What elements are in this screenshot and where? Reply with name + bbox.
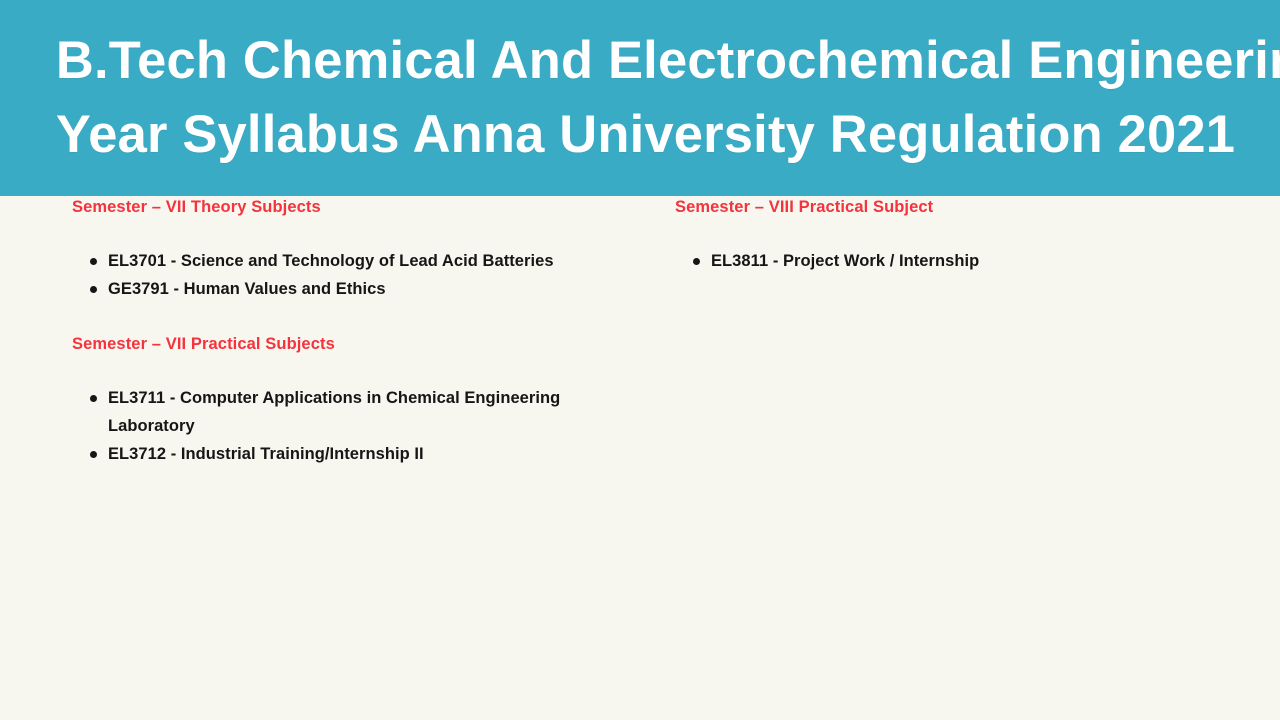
right-column: Semester – VIII Practical Subject EL3811… xyxy=(675,196,1215,275)
subject-list-semester-vii-theory: EL3701 - Science and Technology of Lead … xyxy=(72,247,612,303)
spacer xyxy=(72,355,612,384)
page-title: B.Tech Chemical And Electrochemical Engi… xyxy=(56,24,1224,172)
section-heading-semester-vii-practical: Semester – VII Practical Subjects xyxy=(72,333,612,355)
spacer xyxy=(72,303,612,333)
header-banner: B.Tech Chemical And Electrochemical Engi… xyxy=(0,0,1280,196)
section-semester-viii-practical: Semester – VIII Practical Subject EL3811… xyxy=(675,196,1215,275)
section-semester-vii-theory: Semester – VII Theory Subjects EL3701 - … xyxy=(72,196,612,303)
section-semester-vii-practical: Semester – VII Practical Subjects EL3711… xyxy=(72,333,612,468)
list-item: EL3811 - Project Work / Internship xyxy=(675,247,1215,275)
page-title-line-2: Year Syllabus Anna University Regulation… xyxy=(56,98,1224,172)
list-item: EL3711 - Computer Applications in Chemic… xyxy=(72,384,612,440)
section-heading-semester-vii-theory: Semester – VII Theory Subjects xyxy=(72,196,612,218)
subject-list-semester-vii-practical: EL3711 - Computer Applications in Chemic… xyxy=(72,384,612,468)
spacer xyxy=(675,218,1215,247)
list-item: GE3791 - Human Values and Ethics xyxy=(72,275,612,303)
list-item: EL3701 - Science and Technology of Lead … xyxy=(72,247,612,275)
spacer xyxy=(72,218,612,247)
section-heading-semester-viii-practical: Semester – VIII Practical Subject xyxy=(675,196,1215,218)
list-item: EL3712 - Industrial Training/Internship … xyxy=(72,440,612,468)
subject-list-semester-viii-practical: EL3811 - Project Work / Internship xyxy=(675,247,1215,275)
page-title-line-1: B.Tech Chemical And Electrochemical Engi… xyxy=(56,24,1224,98)
content-area: Semester – VII Theory Subjects EL3701 - … xyxy=(0,196,1280,720)
page-root: B.Tech Chemical And Electrochemical Engi… xyxy=(0,0,1280,720)
left-column: Semester – VII Theory Subjects EL3701 - … xyxy=(72,196,612,468)
